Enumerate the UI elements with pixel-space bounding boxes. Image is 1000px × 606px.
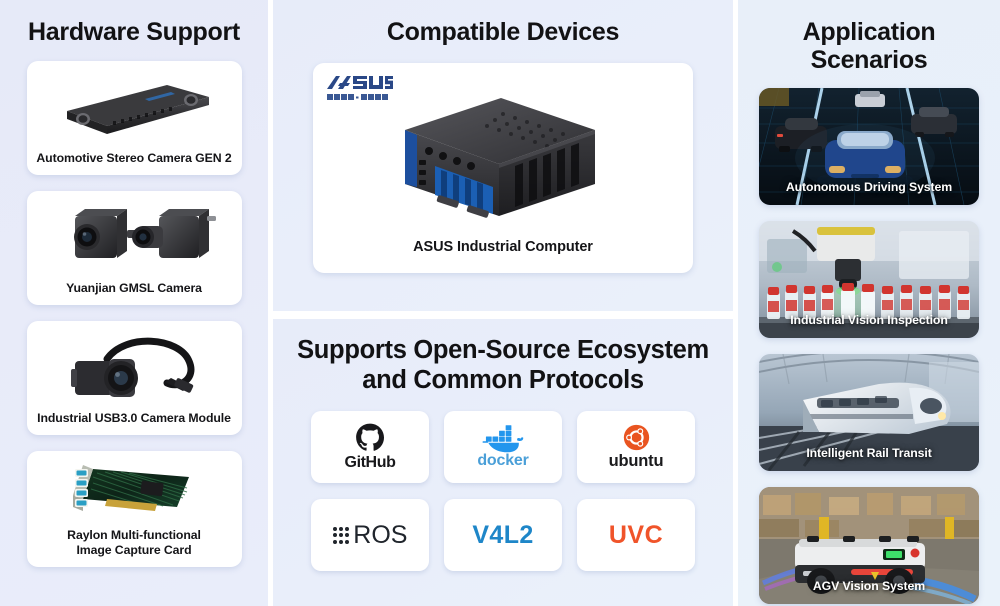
logo-card-github[interactable]: GitHub xyxy=(311,411,429,483)
hardware-card-label: Yuanjian GMSL Camera xyxy=(60,281,208,305)
logo-card-ros[interactable]: ROS xyxy=(311,499,429,571)
capture-card-label-line1: Raylon Multi-functional xyxy=(67,528,201,542)
hardware-card-gmsl-camera[interactable]: Yuanjian GMSL Camera xyxy=(27,191,242,305)
hardware-card-stereo-camera[interactable]: Automotive Stereo Camera GEN 2 xyxy=(27,61,242,175)
logo-card-uvc[interactable]: UVC xyxy=(577,499,695,571)
hardware-support-heading: Hardware Support xyxy=(28,19,240,47)
scenario-label: Intelligent Rail Transit xyxy=(759,446,979,460)
ecosystem-heading-line1: Supports Open-Source Ecosystem xyxy=(297,336,709,364)
capture-card-label-line2: Image Capture Card xyxy=(76,543,191,557)
ubuntu-icon xyxy=(623,424,649,450)
docker-icon xyxy=(481,425,525,451)
asus-wordmark xyxy=(327,75,393,91)
usb-camera-image xyxy=(27,321,242,411)
v4l2-label: V4L2 xyxy=(472,521,533,550)
scenario-label: AGV Vision System xyxy=(759,579,979,593)
docker-label: docker xyxy=(477,452,528,470)
ubuntu-label: ubuntu xyxy=(609,452,664,471)
capture-card-image xyxy=(27,451,242,528)
asus-card-label: ASUS Industrial Computer xyxy=(407,239,599,273)
hardware-card-capture-card[interactable]: Raylon Multi-functional Image Capture Ca… xyxy=(27,451,242,567)
github-icon xyxy=(355,423,385,453)
hardware-card-label: Industrial USB3.0 Camera Module xyxy=(31,411,237,435)
compatible-devices-heading: Compatible Devices xyxy=(387,19,619,47)
scenario-label: Autonomous Driving System xyxy=(759,180,979,194)
scenario-card-autonomous-driving[interactable]: Autonomous Driving System xyxy=(759,88,979,205)
ecosystem-heading: Supports Open-Source Ecosystem and Commo… xyxy=(297,335,709,395)
scenario-card-agv[interactable]: AGV Vision System xyxy=(759,487,979,604)
logo-card-v4l2[interactable]: V4L2 xyxy=(444,499,562,571)
scenario-card-vision-inspection[interactable]: Industrial Vision Inspection xyxy=(759,221,979,338)
ecosystem-heading-line2: and Common Protocols xyxy=(362,366,644,394)
application-scenarios-column: Application Scenarios xyxy=(738,0,1000,606)
ros-label: ROS xyxy=(353,521,407,550)
infographic-board: Hardware Support xyxy=(0,0,1000,606)
github-label: GitHub xyxy=(345,454,396,472)
compatible-devices-panel: Compatible Devices xyxy=(273,0,733,311)
uvc-label: UVC xyxy=(609,521,663,550)
asus-logo-icon xyxy=(327,75,393,101)
hardware-card-label: Automotive Stereo Camera GEN 2 xyxy=(30,151,237,175)
device-card-asus[interactable]: ASUS Industrial Computer xyxy=(313,63,693,273)
scenario-card-rail-transit[interactable]: Intelligent Rail Transit xyxy=(759,354,979,471)
logo-card-docker[interactable]: docker xyxy=(444,411,562,483)
open-source-ecosystem-panel: Supports Open-Source Ecosystem and Commo… xyxy=(273,319,733,606)
stereo-camera-image xyxy=(27,61,242,151)
ros-icon xyxy=(333,527,350,544)
gmsl-camera-image xyxy=(27,191,242,281)
hardware-card-usb-camera[interactable]: Industrial USB3.0 Camera Module xyxy=(27,321,242,435)
asus-industrial-pc-image xyxy=(313,77,693,239)
asus-subtext xyxy=(327,93,393,101)
hardware-support-column: Hardware Support xyxy=(0,0,268,606)
scenario-label: Industrial Vision Inspection xyxy=(759,313,979,327)
ecosystem-logo-grid: GitHub xyxy=(311,411,695,571)
ros-logo: ROS xyxy=(333,521,408,550)
application-scenarios-heading: Application Scenarios xyxy=(758,19,980,74)
panel-divider xyxy=(273,311,733,319)
hardware-card-label: Raylon Multi-functional Image Capture Ca… xyxy=(61,528,207,567)
logo-card-ubuntu[interactable]: ubuntu xyxy=(577,411,695,483)
middle-column: Compatible Devices xyxy=(273,0,733,606)
